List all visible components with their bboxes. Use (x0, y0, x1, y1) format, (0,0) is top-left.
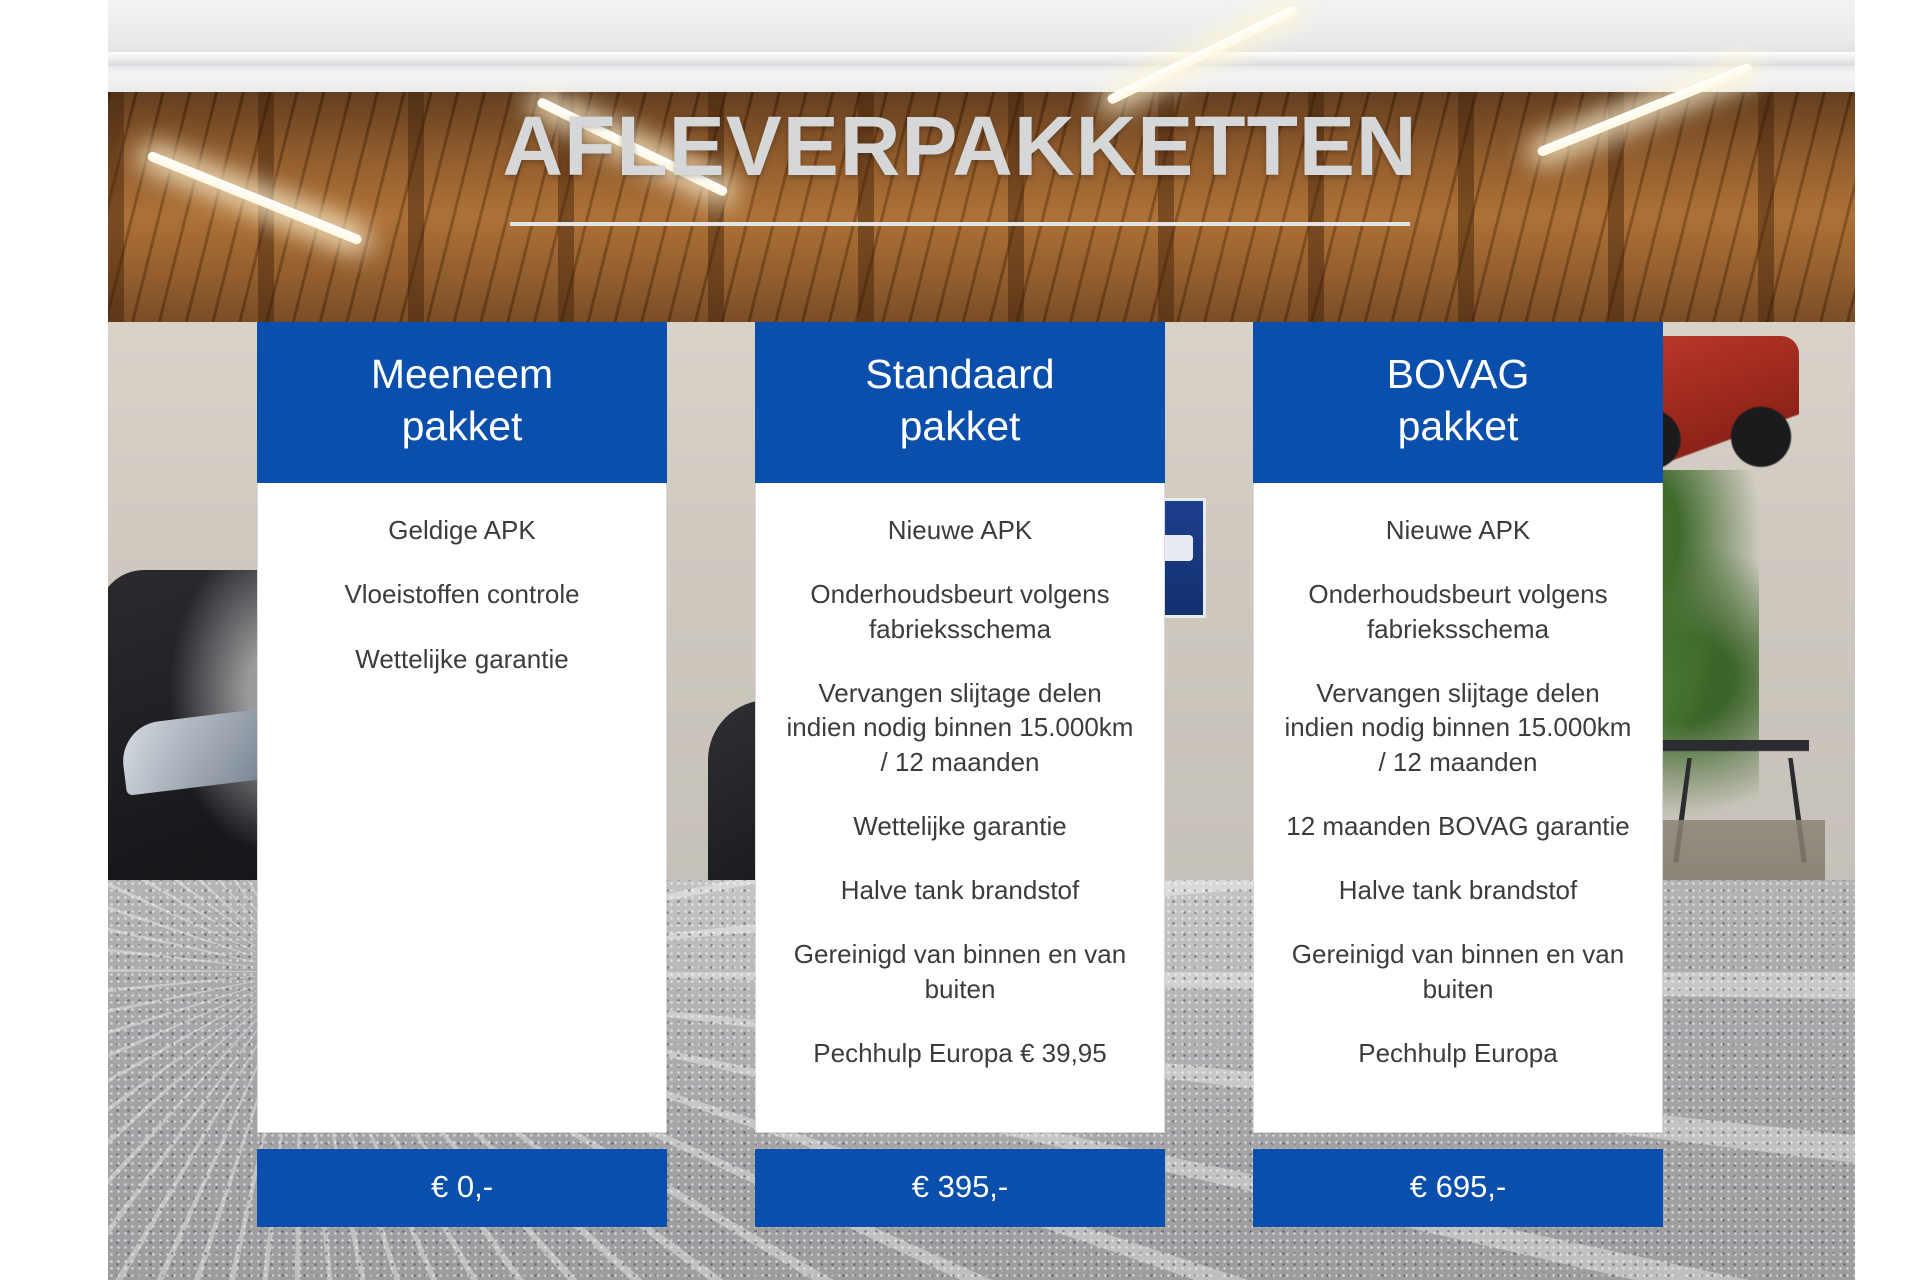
feature-item: Halve tank brandstof (782, 873, 1138, 907)
feature-item: Vervangen slijtage delen indien nodig bi… (782, 676, 1138, 779)
card-header-standaard: Standaard pakket (755, 322, 1165, 483)
page-title: AFLEVERPAKKETTEN (0, 104, 1920, 188)
slide-canvas: AFLEVERPAKKETTEN Meeneem pakket Geldige … (0, 0, 1920, 1280)
card-header-meeneem: Meeneem pakket (257, 322, 667, 483)
feature-item: Wettelijke garantie (782, 809, 1138, 843)
package-card-bovag[interactable]: BOVAG pakket Nieuwe APK Onderhoudsbeurt … (1253, 322, 1663, 1227)
card-title-line2: pakket (765, 400, 1155, 452)
card-price-standaard[interactable]: € 395,- (755, 1149, 1165, 1227)
card-header-bovag: BOVAG pakket (1253, 322, 1663, 483)
card-title-line1: Standaard (765, 348, 1155, 400)
feature-item: Gereinigd van binnen en van buiten (1280, 937, 1636, 1006)
card-price-bovag[interactable]: € 695,- (1253, 1149, 1663, 1227)
card-title-line2: pakket (1263, 400, 1653, 452)
card-price-meeneem[interactable]: € 0,- (257, 1149, 667, 1227)
feature-item: Wettelijke garantie (284, 642, 640, 676)
title-underline (510, 222, 1410, 226)
feature-item: 12 maanden BOVAG garantie (1280, 809, 1636, 843)
feature-item: Vervangen slijtage delen indien nodig bi… (1280, 676, 1636, 779)
card-body-meeneem: Geldige APK Vloeistoffen controle Wettel… (257, 483, 667, 1133)
card-title-line1: Meeneem (267, 348, 657, 400)
feature-item: Pechhulp Europa € 39,95 (782, 1036, 1138, 1070)
card-title-line1: BOVAG (1263, 348, 1653, 400)
feature-item: Pechhulp Europa (1280, 1036, 1636, 1070)
feature-item: Vloeistoffen controle (284, 577, 640, 611)
card-body-standaard: Nieuwe APK Onderhoudsbeurt volgens fabri… (755, 483, 1165, 1133)
feature-item: Halve tank brandstof (1280, 873, 1636, 907)
feature-item: Nieuwe APK (1280, 513, 1636, 547)
card-body-bovag: Nieuwe APK Onderhoudsbeurt volgens fabri… (1253, 483, 1663, 1133)
feature-item: Onderhoudsbeurt volgens fabrieksschema (1280, 577, 1636, 646)
package-card-meeneem[interactable]: Meeneem pakket Geldige APK Vloeistoffen … (257, 322, 667, 1227)
feature-item: Onderhoudsbeurt volgens fabrieksschema (782, 577, 1138, 646)
title-block: AFLEVERPAKKETTEN (0, 104, 1920, 226)
package-card-standaard[interactable]: Standaard pakket Nieuwe APK Onderhoudsbe… (755, 322, 1165, 1227)
feature-item: Geldige APK (284, 513, 640, 547)
card-title-line2: pakket (267, 400, 657, 452)
feature-item: Nieuwe APK (782, 513, 1138, 547)
package-card-list: Meeneem pakket Geldige APK Vloeistoffen … (0, 322, 1920, 1227)
ceiling-surface (108, 0, 1855, 96)
feature-item: Gereinigd van binnen en van buiten (782, 937, 1138, 1006)
